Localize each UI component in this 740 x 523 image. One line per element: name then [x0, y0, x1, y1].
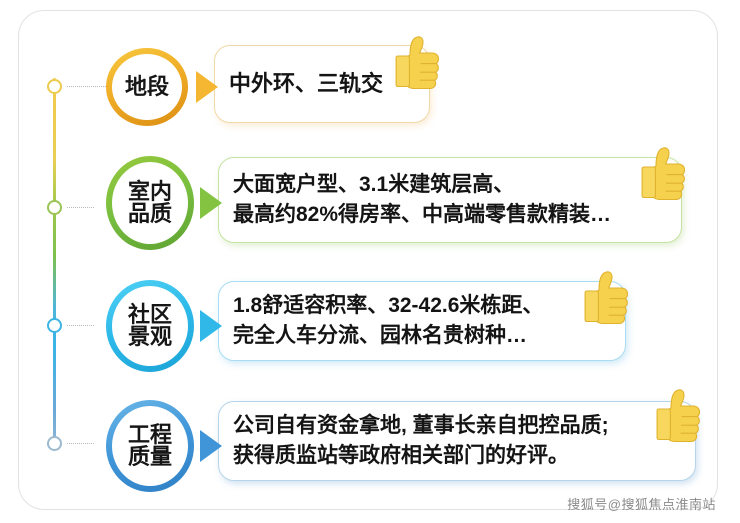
connector-dashes-3: [67, 325, 94, 326]
detail-text-location: 中外环、三轨交: [215, 68, 393, 100]
category-label-engineering-quality: 工程 质量: [128, 424, 172, 469]
connector-dashes-2: [67, 207, 94, 208]
thumbs-up-icon: [394, 35, 440, 89]
category-bubble-interior-quality: 室内 品质: [106, 156, 194, 250]
row-interior-quality: 室内 品质 大面宽户型、3.1米建筑层高、 最高约82%得房率、中高端零售款精装…: [0, 146, 740, 256]
row-community-landscape: 社区 景观 1.8舒适容积率、32-42.6米栋距、 完全人车分流、园林名贵树种…: [0, 272, 740, 376]
watermark-text: 搜狐号@搜狐焦点淮南站: [567, 494, 716, 513]
timeline-node-community-landscape: [47, 318, 62, 333]
category-label-community-landscape: 社区 景观: [128, 304, 172, 349]
arrow-icon-engineering-quality: [200, 430, 222, 462]
timeline-node-location: [47, 79, 62, 94]
category-bubble-engineering-quality: 工程 质量: [106, 400, 194, 492]
detail-text-community-landscape: 1.8舒适容积率、32-42.6米栋距、 完全人车分流、园林名贵树种…: [219, 291, 553, 352]
detail-panel-interior-quality: 大面宽户型、3.1米建筑层高、 最高约82%得房率、中高端零售款精装…: [218, 157, 682, 243]
category-label-interior-quality: 室内 品质: [128, 181, 172, 226]
row-location: 地段 中外环、三轨交: [0, 34, 740, 138]
timeline-node-interior-quality: [47, 200, 62, 215]
row-engineering-quality: 工程 质量 公司自有资金拿地, 董事长亲自把控品质; 获得质监站等政府相关部门的…: [0, 392, 740, 496]
thumbs-up-icon: [583, 270, 629, 324]
arrow-icon-community-landscape: [200, 310, 222, 342]
category-bubble-community-landscape: 社区 景观: [106, 280, 194, 372]
detail-text-interior-quality: 大面宽户型、3.1米建筑层高、 最高约82%得房率、中高端零售款精装…: [219, 170, 621, 231]
thumbs-up-icon: [640, 146, 686, 200]
thumbs-up-icon: [655, 388, 701, 442]
infographic-root: 地段 中外环、三轨交 室内 品质 大面宽户型、3.1米建筑层高、 最高约82%得…: [0, 0, 740, 523]
category-label-location: 地段: [125, 76, 169, 98]
category-bubble-location: 地段: [106, 48, 188, 126]
detail-text-engineering-quality: 公司自有资金拿地, 董事长亲自把控品质; 获得质监站等政府相关部门的好评。: [219, 411, 619, 472]
detail-panel-community-landscape: 1.8舒适容积率、32-42.6米栋距、 完全人车分流、园林名贵树种…: [218, 281, 626, 361]
connector-dashes-1: [67, 86, 106, 87]
detail-panel-engineering-quality: 公司自有资金拿地, 董事长亲自把控品质; 获得质监站等政府相关部门的好评。: [218, 401, 696, 481]
arrow-icon-location: [196, 71, 218, 103]
connector-dashes-4: [67, 443, 94, 444]
arrow-icon-interior-quality: [200, 187, 222, 219]
timeline-node-engineering-quality: [47, 436, 62, 451]
